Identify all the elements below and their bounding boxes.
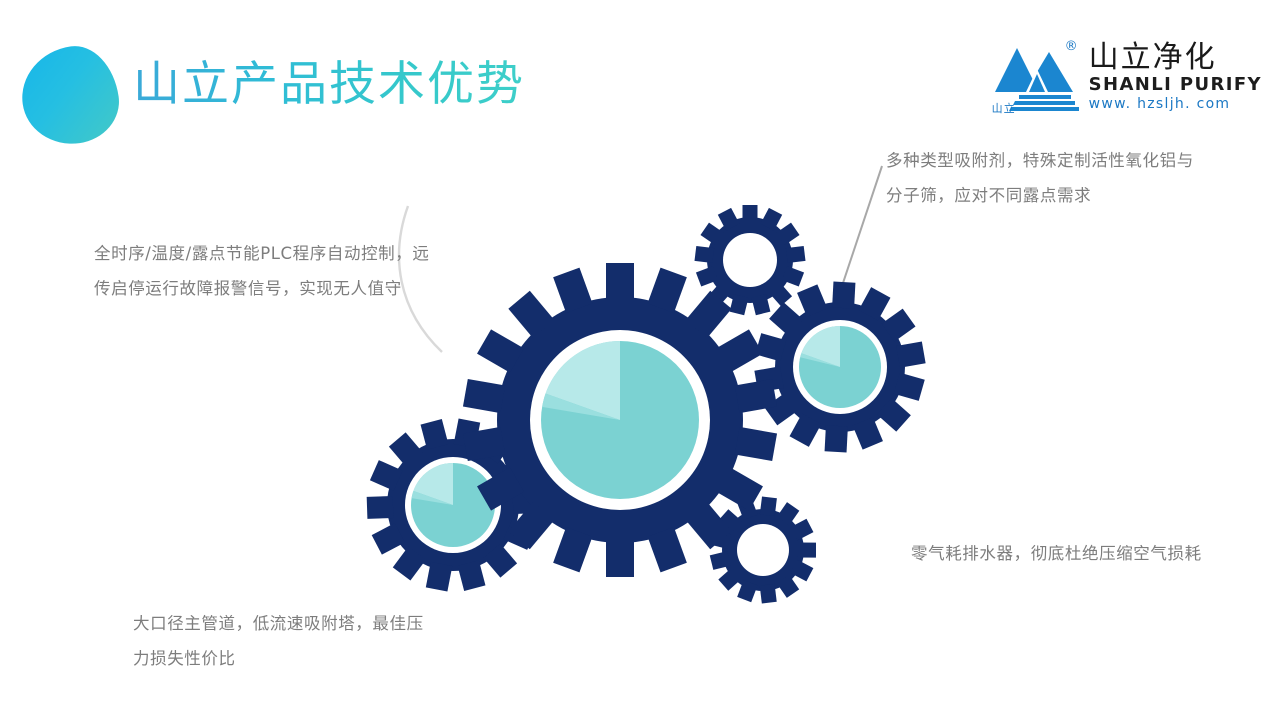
brand-logo: ® 山立 山立净化 SHANLI PURIFY www. hzsljh. com [991,38,1262,116]
brand-name-en: SHANLI PURIFY [1089,75,1262,95]
brand-text-block: 山立净化 SHANLI PURIFY www. hzsljh. com [1089,38,1262,112]
callout-bottom-left: 大口径主管道，低流速吸附塔，最佳压力损失性价比 [133,606,433,676]
brand-name-cn: 山立净化 [1089,42,1262,74]
gear-right-middle [754,282,925,453]
gear-main-center [463,263,777,577]
slide-root: 山立产品技术优势 ® 山立 山立净化 SHANLI PURIFY www. hz… [0,0,1280,720]
callout-top-right: 多种类型吸附剂，特殊定制活性氧化铝与分子筛，应对不同露点需求 [886,143,1206,213]
mountain-logo-icon: ® 山立 [991,38,1083,114]
page-title: 山立产品技术优势 [133,52,525,118]
blob-decoration-icon [16,41,125,150]
gear-bottom-small [710,496,816,603]
callout-top-left: 全时序/温度/露点节能PLC程序自动控制，远传启停运行故障报警信号，实现无人值守 [94,236,446,306]
interlocking-gears-illustration [330,160,950,620]
brand-website: www. hzsljh. com [1089,96,1262,112]
callout-bottom-right: 零气耗排水器，彻底杜绝压缩空气损耗 [911,536,1229,571]
brand-mark-caption: 山立 [992,103,1016,115]
registered-trademark-icon: ® [1065,40,1078,53]
